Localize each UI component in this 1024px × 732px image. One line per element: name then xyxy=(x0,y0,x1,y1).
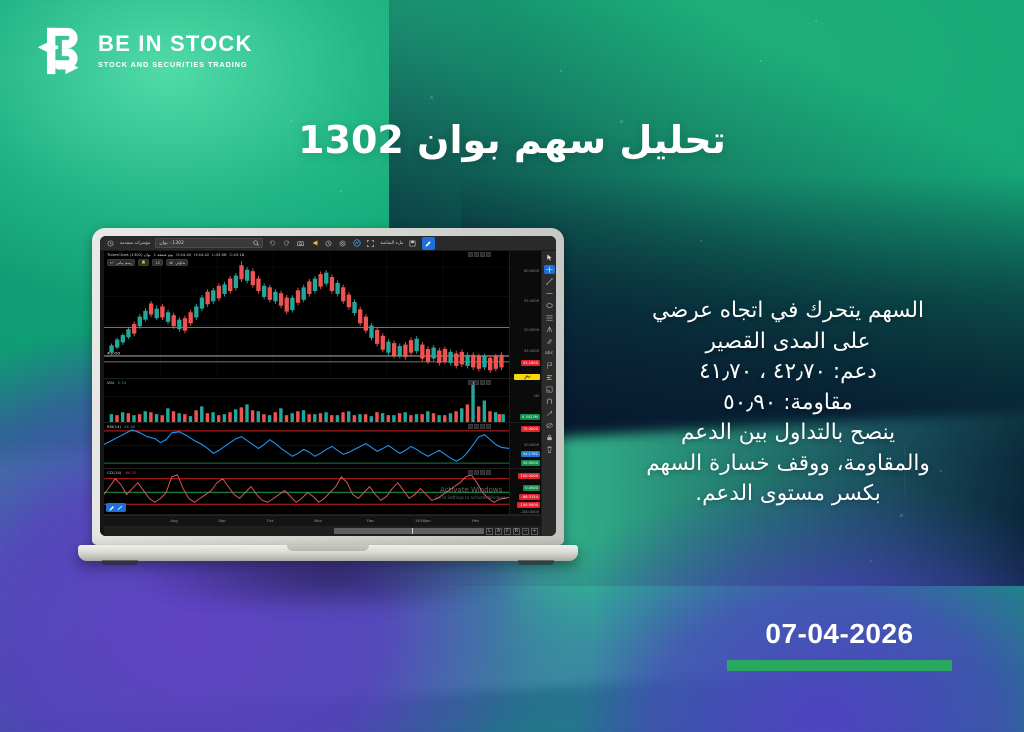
chip-alert[interactable] xyxy=(138,259,149,266)
volume-last-tag: 0.3422M xyxy=(520,414,540,420)
crosshair-icon[interactable] xyxy=(544,265,555,274)
trend-line-icon[interactable] xyxy=(544,277,555,286)
ohlc-close: C:43.18 xyxy=(229,252,244,257)
volume-pane[interactable]: VOL 0.34 xyxy=(104,379,541,423)
rsi-overbought-tag: 70.0000 xyxy=(521,426,540,432)
pane-btn-settings[interactable] xyxy=(468,252,473,257)
chart-tool-chips: رسم بياني 12 تداولي xyxy=(107,259,188,266)
volume-pane-controls[interactable] xyxy=(468,380,491,385)
measure-icon[interactable] xyxy=(544,385,555,394)
cci-pane[interactable]: CCI(14) -66.32 xyxy=(104,469,541,515)
time-tick-2: Oct xyxy=(267,518,274,523)
magnifier-icon[interactable] xyxy=(544,409,555,418)
fullscreen-label[interactable]: ملء الشاشة xyxy=(380,241,403,246)
horizontal-line-icon[interactable] xyxy=(544,289,555,298)
pitchfork-icon[interactable] xyxy=(544,325,555,334)
rsi-value: 44.18 xyxy=(124,424,135,429)
time-tick-4: Dec xyxy=(367,518,374,523)
cci-upper-tag: 100.0000 xyxy=(518,473,540,479)
analysis-line-5: ينصح بالتداول بين الدعم xyxy=(594,418,982,449)
log-scale-icon[interactable]: L xyxy=(486,528,493,535)
auto-scale-icon[interactable]: A xyxy=(495,528,502,535)
rsi-pane[interactable]: RSI(14) 44.18 xyxy=(104,423,541,469)
drawing-mode-badge[interactable] xyxy=(106,503,126,512)
brand-name: BE IN STOCK xyxy=(98,33,253,55)
fit-screen-icon[interactable]: F xyxy=(504,528,511,535)
date-block: 07-04-2026 xyxy=(727,618,952,671)
chip-candles-label: تداولي xyxy=(175,260,185,265)
rsi-label: RSI(14) xyxy=(107,424,121,429)
windows-activation-watermark: Activate Windows Go to Settings to activ… xyxy=(435,486,507,500)
time-tick-0: Aug xyxy=(170,518,177,523)
volume-axis[interactable]: 2M 0.3422M xyxy=(509,379,541,422)
draw-tool-button[interactable] xyxy=(422,237,435,250)
brush-icon[interactable] xyxy=(544,337,555,346)
volume-tick-0: 2M xyxy=(534,394,539,398)
laptop-foot-left xyxy=(102,560,138,565)
rsi-plot[interactable] xyxy=(104,423,509,468)
indicator-icon[interactable] xyxy=(352,239,361,248)
cci-btn-more[interactable] xyxy=(486,470,491,475)
app-body: TickerChart بوان (1302) 1 يوم شمعة O:44.… xyxy=(100,251,556,536)
analysis-line-7: بكسر مستوى الدعم. xyxy=(594,479,982,510)
candlestick-icon xyxy=(169,261,173,265)
page-title: تحليل سهم بوان 1302 xyxy=(0,118,1024,162)
settings-alt-icon[interactable] xyxy=(324,239,333,248)
fib-retracement-icon[interactable] xyxy=(544,313,555,322)
chart-title: TickerChart بوان (1302) xyxy=(107,252,151,257)
price-pane[interactable]: TickerChart بوان (1302) 1 يوم شمعة O:44.… xyxy=(104,251,541,379)
save-icon[interactable] xyxy=(408,239,417,248)
cci-bottom-tick: -200.0000 xyxy=(521,510,539,514)
flag-icon[interactable] xyxy=(544,361,555,370)
date-underline-bar xyxy=(727,660,952,671)
lock-icon[interactable] xyxy=(544,433,555,442)
ohlc-high: H:44.42 xyxy=(194,252,209,257)
laptop-lid: ملء الشاشة xyxy=(92,228,564,545)
price-axis[interactable]: 60.0000 55.0000 50.0000 45.0000 43.1800 xyxy=(509,251,541,378)
pane-btn-hide[interactable] xyxy=(474,252,479,257)
arrows-b-logo-icon xyxy=(34,26,86,76)
cci-lower-tag: -100.0000 xyxy=(517,502,540,508)
svg-text:43.00: 43.00 xyxy=(107,351,121,355)
symbol-search-input[interactable]: 1302 - بوان xyxy=(155,238,263,248)
candlestick-chart: 43.00 xyxy=(104,251,509,378)
camera-icon[interactable] xyxy=(296,239,305,248)
rsi-oversold-tag: 30.0000 xyxy=(521,460,540,466)
price-tick-3: 45.0000 xyxy=(524,349,539,353)
text-abc-icon[interactable]: abc xyxy=(544,349,555,358)
gear-icon[interactable] xyxy=(338,239,347,248)
rsi-legend: RSI(14) 44.18 xyxy=(107,424,135,429)
volume-btn-remove[interactable] xyxy=(480,380,485,385)
time-tick-3: Nov xyxy=(314,518,321,523)
last-price-tag: 43.1800 xyxy=(521,360,540,366)
pencil-icon xyxy=(425,240,432,247)
brand-text: BE IN STOCK STOCK AND SECURITIES TRADING xyxy=(98,33,253,69)
price-tick-2: 50.0000 xyxy=(524,328,539,332)
volume-btn-hide[interactable] xyxy=(474,380,479,385)
ellipse-icon[interactable] xyxy=(544,301,555,310)
drawing-tools-rail: abc xyxy=(541,251,556,536)
cci-legend: CCI(14) -66.32 xyxy=(107,470,136,475)
chip-interval[interactable]: 12 xyxy=(152,259,163,266)
trend-line-icon xyxy=(117,505,123,511)
cci-pane-controls[interactable] xyxy=(468,470,491,475)
time-range-slider[interactable] xyxy=(334,528,484,534)
pattern-icon[interactable] xyxy=(544,373,555,382)
advanced-indicators-label[interactable]: مؤشرات متقدمة xyxy=(120,241,150,246)
fullscreen-icon[interactable] xyxy=(366,239,375,248)
volume-bars-chart xyxy=(104,379,509,422)
laptop-foot-right xyxy=(518,560,554,565)
brand-tagline: STOCK AND SECURITIES TRADING xyxy=(98,60,253,69)
ohlc-open: O:44.40 xyxy=(176,252,191,257)
pane-controls[interactable] xyxy=(468,252,491,257)
magnet-icon[interactable] xyxy=(544,397,555,406)
search-icon xyxy=(253,240,259,246)
brand-logo: BE IN STOCK STOCK AND SECURITIES TRADING xyxy=(34,26,253,76)
laptop-base-notch xyxy=(287,545,369,551)
zigzag-icon xyxy=(110,261,114,265)
cursor-icon[interactable] xyxy=(310,239,319,248)
volume-btn-more[interactable] xyxy=(486,380,491,385)
pencil-icon xyxy=(109,505,115,511)
volume-label: VOL xyxy=(107,380,115,385)
watermark-subtitle: Go to Settings to activate Windows. xyxy=(435,495,507,500)
chart-status-bar: L A F R − + xyxy=(104,526,541,536)
cci-axis[interactable]: 100.0000 0.0000 -66.3154 -100.0000 -200.… xyxy=(509,469,541,514)
date-value: 07-04-2026 xyxy=(727,618,952,650)
chip-candles[interactable]: تداولي xyxy=(166,259,188,266)
volume-plot[interactable] xyxy=(104,379,509,422)
zoom-in-icon[interactable]: + xyxy=(531,528,538,535)
rsi-mid-tick: 50.0000 xyxy=(524,443,539,447)
price-legend: TickerChart بوان (1302) 1 يوم شمعة O:44.… xyxy=(107,252,244,257)
cci-btn-hide[interactable] xyxy=(474,470,479,475)
cci-last-tag: -66.3154 xyxy=(519,494,540,500)
trading-app: ملء الشاشة xyxy=(100,236,556,536)
symbol-search-value: 1302 - بوان xyxy=(159,241,184,246)
volume-value: 0.34 xyxy=(118,380,126,385)
rsi-line-chart xyxy=(104,423,509,468)
rsi-btn-settings[interactable] xyxy=(468,424,473,429)
chart-interval: 1 يوم شمعة xyxy=(154,252,173,257)
price-plot[interactable]: 43.00 xyxy=(104,251,509,378)
time-axis[interactable]: Aug Sep Oct Nov Dec 2026Jan Feb xyxy=(104,515,541,526)
analysis-line-3-support: دعم: ٤٢٫٧٠ ، ٤١٫٧٠ xyxy=(594,357,982,388)
chart-area: TickerChart بوان (1302) 1 يوم شمعة O:44.… xyxy=(104,251,541,536)
price-tick-1: 55.0000 xyxy=(524,299,539,303)
app-toolbar: ملء الشاشة xyxy=(100,236,556,251)
rsi-axis[interactable]: 70.0000 50.0000 44.1762 30.0000 xyxy=(509,423,541,468)
pane-btn-more[interactable] xyxy=(486,252,491,257)
range-slider-handle[interactable] xyxy=(412,528,413,534)
alert-clock-icon[interactable] xyxy=(106,239,115,248)
cci-btn-remove[interactable] xyxy=(480,470,485,475)
chip-drawing[interactable]: رسم بياني xyxy=(107,259,135,266)
time-tick-6: Feb xyxy=(472,518,479,523)
chip-drawing-label: رسم بياني xyxy=(116,260,132,265)
flag-marker-icon[interactable] xyxy=(514,374,540,380)
bell-icon xyxy=(141,260,146,265)
time-tick-1: Sep xyxy=(218,518,225,523)
laptop-mockup: ملء الشاشة xyxy=(78,228,578,561)
analysis-text: السهم يتحرك في اتجاه عرضي على المدى القص… xyxy=(594,296,982,510)
zoom-reset-icon[interactable]: R xyxy=(513,528,520,535)
cursor-arrow-icon[interactable] xyxy=(544,253,555,262)
cci-label: CCI(14) xyxy=(107,470,121,475)
rsi-pane-controls[interactable] xyxy=(468,424,491,429)
zoom-out-icon[interactable]: − xyxy=(522,528,529,535)
time-tick-5: 2026Jan xyxy=(415,518,431,523)
volume-legend: VOL 0.34 xyxy=(107,380,126,385)
rsi-btn-remove[interactable] xyxy=(480,424,485,429)
rsi-last-tag: 44.1762 xyxy=(521,451,540,457)
analysis-line-6: والمقاومة، ووقف خسارة السهم xyxy=(594,449,982,480)
eye-hidden-icon[interactable] xyxy=(544,421,555,430)
analysis-line-1: السهم يتحرك في اتجاه عرضي xyxy=(594,296,982,327)
rsi-btn-more[interactable] xyxy=(486,424,491,429)
laptop-base xyxy=(78,545,578,561)
watermark-title: Activate Windows xyxy=(435,486,507,494)
laptop-screen: ملء الشاشة xyxy=(100,236,556,536)
redo-icon[interactable] xyxy=(282,239,291,248)
volume-btn-settings[interactable] xyxy=(468,380,473,385)
cci-btn-settings[interactable] xyxy=(468,470,473,475)
trash-icon[interactable] xyxy=(544,445,555,454)
cci-value: -66.32 xyxy=(124,470,136,475)
analysis-line-2: على المدى القصير xyxy=(594,327,982,358)
cci-mid-tag: 0.0000 xyxy=(523,485,540,491)
price-tick-0: 60.0000 xyxy=(524,269,539,273)
ohlc-low: L:43.08 xyxy=(212,252,226,257)
undo-icon[interactable] xyxy=(268,239,277,248)
pane-btn-remove[interactable] xyxy=(480,252,485,257)
rsi-btn-hide[interactable] xyxy=(474,424,479,429)
analysis-line-4-resistance: مقاومة: ٥٠٫٩٠ xyxy=(594,388,982,419)
